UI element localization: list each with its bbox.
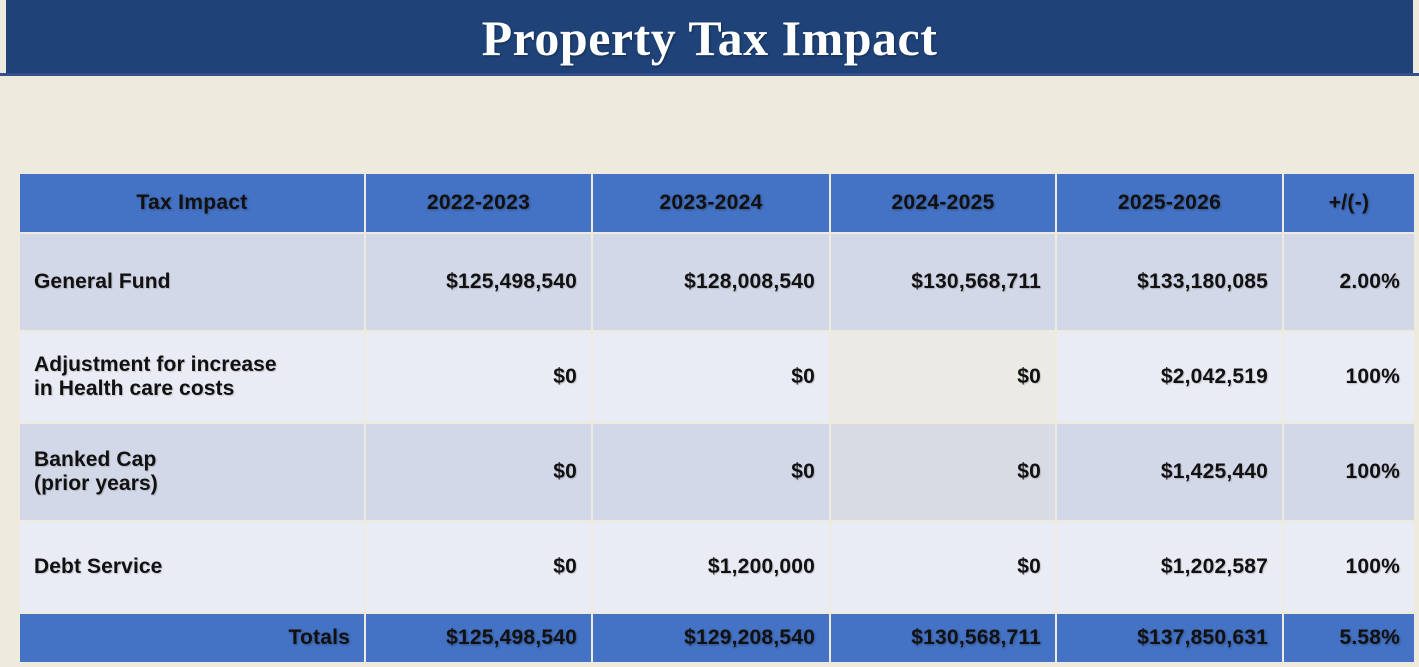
row-label-line1: Adjustment for increase [34, 353, 350, 377]
page-title: Property Tax Impact [482, 13, 938, 63]
table-footer: Totals $125,498,540 $129,208,540 $130,56… [20, 614, 1414, 662]
cell-general-fund-2024-2025: $130,568,711 [831, 234, 1055, 330]
row-label-line1: General Fund [34, 270, 171, 293]
cell-health-care-adjustment-2023-2024: $0 [593, 332, 829, 422]
totals-2023-2024: $129,208,540 [593, 614, 829, 662]
cell-general-fund-2022-2023: $125,498,540 [366, 234, 591, 330]
cell-banked-cap-2023-2024: $0 [593, 424, 829, 520]
totals-2022-2023: $125,498,540 [366, 614, 591, 662]
column-header-2025-2026[interactable]: 2025-2026 [1057, 174, 1282, 232]
column-header-2022-2023[interactable]: 2022-2023 [366, 174, 591, 232]
column-header-tax-impact[interactable]: Tax Impact [20, 174, 364, 232]
cell-general-fund-2025-2026: $133,180,085 [1057, 234, 1282, 330]
cell-banked-cap-2024-2025: $0 [831, 424, 1055, 520]
banner-left-edge [0, 0, 6, 76]
row-label-line1: Banked Cap [34, 448, 350, 472]
cell-debt-service-change: 100% [1284, 522, 1414, 612]
totals-2025-2026: $137,850,631 [1057, 614, 1282, 662]
column-header-change[interactable]: +/(-) [1284, 174, 1414, 232]
row-label-line1: Debt Service [34, 555, 162, 578]
cell-banked-cap-2025-2026: $1,425,440 [1057, 424, 1282, 520]
cell-general-fund-2023-2024: $128,008,540 [593, 234, 829, 330]
row-label-line2: in Health care costs [34, 377, 350, 401]
totals-change: 5.58% [1284, 614, 1414, 662]
row-label-line2: (prior years) [34, 472, 350, 496]
row-label-banked-cap: Banked Cap (prior years) [20, 424, 364, 520]
cell-health-care-adjustment-change: 100% [1284, 332, 1414, 422]
cell-banked-cap-change: 100% [1284, 424, 1414, 520]
column-header-2024-2025[interactable]: 2024-2025 [831, 174, 1055, 232]
table-header: Tax Impact 2022-2023 2023-2024 2024-2025… [20, 174, 1414, 232]
table-row: General Fund $125,498,540 $128,008,540 $… [20, 234, 1414, 330]
banner-right-edge [1413, 0, 1419, 76]
cell-debt-service-2025-2026: $1,202,587 [1057, 522, 1282, 612]
table-row: Adjustment for increase in Health care c… [20, 332, 1414, 422]
table-row: Banked Cap (prior years) $0 $0 $0 $1,425… [20, 424, 1414, 520]
table-header-row: Tax Impact 2022-2023 2023-2024 2024-2025… [20, 174, 1414, 232]
totals-label: Totals [20, 614, 364, 662]
row-label-debt-service: Debt Service [20, 522, 364, 612]
cell-health-care-adjustment-2024-2025: $0 [831, 332, 1055, 422]
cell-health-care-adjustment-2025-2026: $2,042,519 [1057, 332, 1282, 422]
table-row: Debt Service $0 $1,200,000 $0 $1,202,587… [20, 522, 1414, 612]
tax-impact-table-container: Tax Impact 2022-2023 2023-2024 2024-2025… [18, 172, 1402, 664]
title-banner: Property Tax Impact [0, 0, 1419, 76]
cell-debt-service-2023-2024: $1,200,000 [593, 522, 829, 612]
row-label-general-fund: General Fund [20, 234, 364, 330]
column-header-2023-2024[interactable]: 2023-2024 [593, 174, 829, 232]
tax-impact-table: Tax Impact 2022-2023 2023-2024 2024-2025… [18, 172, 1416, 664]
cell-general-fund-change: 2.00% [1284, 234, 1414, 330]
cell-debt-service-2022-2023: $0 [366, 522, 591, 612]
cell-health-care-adjustment-2022-2023: $0 [366, 332, 591, 422]
totals-2024-2025: $130,568,711 [831, 614, 1055, 662]
table-body: General Fund $125,498,540 $128,008,540 $… [20, 234, 1414, 612]
totals-row: Totals $125,498,540 $129,208,540 $130,56… [20, 614, 1414, 662]
row-label-health-care-adjustment: Adjustment for increase in Health care c… [20, 332, 364, 422]
cell-debt-service-2024-2025: $0 [831, 522, 1055, 612]
cell-banked-cap-2022-2023: $0 [366, 424, 591, 520]
